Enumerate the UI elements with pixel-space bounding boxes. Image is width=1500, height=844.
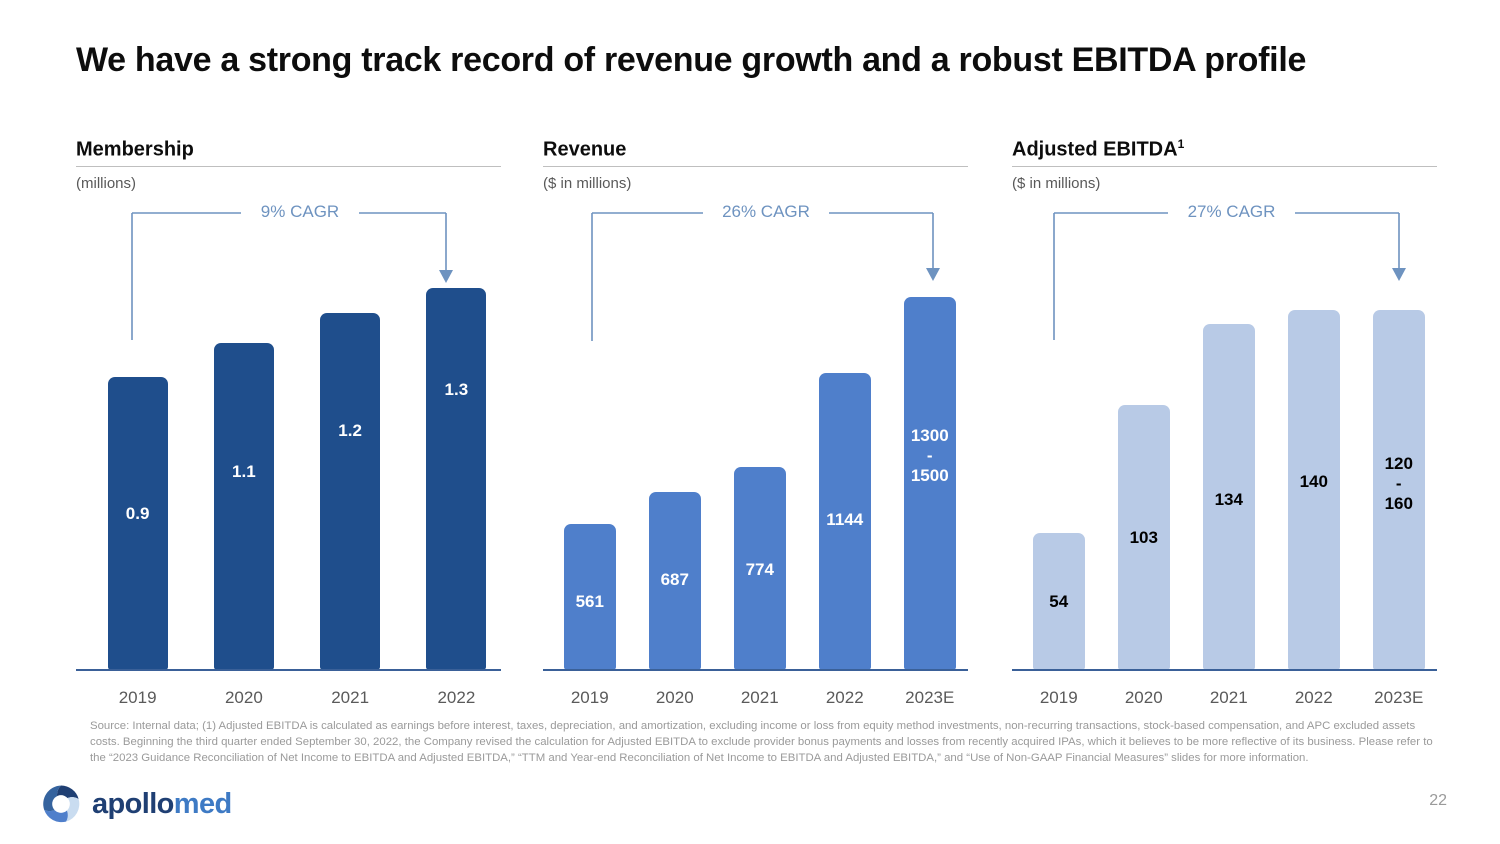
bar-membership-2021[interactable]	[320, 313, 380, 670]
x-axis-ebitda	[1012, 669, 1437, 671]
chart-title-ebitda: Adjusted EBITDA1	[1012, 138, 1437, 166]
bar-group-ebitda: 54 103 134 140 120 - 160	[1012, 288, 1437, 670]
bar-value-membership-2019: 0.9	[126, 504, 150, 524]
x-label-revenue-2019: 2019	[547, 688, 632, 708]
bar-value-revenue-2020: 687	[661, 570, 689, 590]
chart-title-text: Membership	[76, 139, 194, 161]
company-logo: apollomed	[40, 782, 232, 826]
title-divider	[543, 166, 968, 167]
bar-slot: 0.9	[85, 288, 191, 670]
x-axis-membership	[76, 669, 501, 671]
x-label-revenue-2020: 2020	[632, 688, 717, 708]
chart-title-text: Revenue	[543, 139, 626, 161]
chart-units-membership: (millions)	[76, 176, 501, 193]
bar-slot: 1.1	[191, 288, 297, 670]
bar-slot: 1.3	[403, 288, 509, 670]
bar-slot: 54	[1016, 288, 1101, 670]
bar-slot: 687	[632, 288, 717, 670]
chart-title-revenue: Revenue	[543, 138, 968, 166]
bar-group-revenue: 561 687 774 1144 1300 - 1500	[543, 288, 968, 670]
plot-area-ebitda: 54 103 134 140 120 - 160	[1012, 288, 1437, 708]
page-title: We have a strong track record of revenue…	[76, 40, 1436, 81]
chart-title-superscript: 1	[1178, 137, 1185, 151]
page-number: 22	[1429, 792, 1447, 810]
bar-value-revenue-2022: 1144	[826, 510, 863, 530]
bar-group-membership: 0.9 1.1 1.2 1.3	[76, 288, 501, 670]
x-label-ebitda-2019: 2019	[1016, 688, 1101, 708]
title-divider	[76, 166, 501, 167]
bar-value-ebitda-2019: 54	[1049, 592, 1068, 612]
plot-area-membership: 0.9 1.1 1.2 1.3 2019 2020 202	[76, 288, 501, 708]
x-label-revenue-2022: 2022	[802, 688, 887, 708]
bar-value-revenue-2019: 561	[576, 592, 604, 612]
x-label-ebitda-2021: 2021	[1186, 688, 1271, 708]
bar-slot: 134	[1186, 288, 1271, 670]
bar-value-ebitda-2022: 140	[1300, 472, 1328, 492]
chart-panel-membership: Membership (millions) 9% CAGR 0.9	[76, 138, 501, 708]
x-label-ebitda-2020: 2020	[1101, 688, 1186, 708]
logo-text-med: med	[174, 788, 232, 820]
bar-membership-2022[interactable]	[426, 288, 486, 670]
chart-panel-ebitda: Adjusted EBITDA1 ($ in millions) 27% CAG…	[1012, 138, 1437, 708]
logo-text-apollo: apollo	[92, 788, 174, 820]
chart-title-membership: Membership	[76, 138, 501, 166]
bar-value-membership-2021: 1.2	[338, 421, 362, 441]
chart-units-ebitda: ($ in millions)	[1012, 176, 1437, 193]
bar-value-ebitda-2023e: 120 - 160	[1385, 454, 1413, 514]
x-label-revenue-2023e: 2023E	[887, 688, 972, 708]
x-label-membership-2020: 2020	[191, 688, 297, 708]
x-label-membership-2021: 2021	[297, 688, 403, 708]
bar-slot: 1.2	[297, 288, 403, 670]
bar-slot: 1300 - 1500	[887, 288, 972, 670]
slide-canvas: We have a strong track record of revenue…	[0, 0, 1500, 844]
bar-value-revenue-2021: 774	[746, 560, 774, 580]
bar-slot: 774	[717, 288, 802, 670]
x-label-membership-2019: 2019	[85, 688, 191, 708]
x-label-ebitda-2023e: 2023E	[1356, 688, 1441, 708]
bar-value-ebitda-2020: 103	[1130, 528, 1158, 548]
footnote-text: Source: Internal data; (1) Adjusted EBIT…	[90, 718, 1435, 767]
x-axis-revenue	[543, 669, 968, 671]
x-axis-labels-ebitda: 2019 2020 2021 2022 2023E	[1012, 674, 1437, 708]
chart-panel-revenue: Revenue ($ in millions) 26% CAGR 561	[543, 138, 968, 708]
cagr-label-membership: 9% CAGR	[241, 202, 359, 222]
x-label-ebitda-2022: 2022	[1271, 688, 1356, 708]
bar-slot: 103	[1101, 288, 1186, 670]
x-label-revenue-2021: 2021	[717, 688, 802, 708]
bar-slot: 120 - 160	[1356, 288, 1441, 670]
bar-value-ebitda-2021: 134	[1215, 490, 1243, 510]
chart-title-text: Adjusted EBITDA	[1012, 139, 1178, 161]
logo-wordmark: apollomed	[92, 790, 232, 819]
apollomed-swirl-icon	[40, 783, 82, 825]
chart-units-revenue: ($ in millions)	[543, 176, 968, 193]
cagr-label-ebitda: 27% CAGR	[1168, 202, 1295, 222]
title-divider	[1012, 166, 1437, 167]
cagr-label-revenue: 26% CAGR	[703, 202, 829, 222]
x-axis-labels-membership: 2019 2020 2021 2022	[76, 674, 501, 708]
bar-slot: 561	[547, 288, 632, 670]
plot-area-revenue: 561 687 774 1144 1300 - 1500	[543, 288, 968, 708]
bar-slot: 1144	[802, 288, 887, 670]
bar-value-membership-2022: 1.3	[445, 380, 469, 400]
bar-value-revenue-2023e: 1300 - 1500	[911, 426, 949, 486]
x-label-membership-2022: 2022	[403, 688, 509, 708]
x-axis-labels-revenue: 2019 2020 2021 2022 2023E	[543, 674, 968, 708]
bar-slot: 140	[1271, 288, 1356, 670]
bar-value-membership-2020: 1.1	[232, 462, 256, 482]
bar-membership-2020[interactable]	[214, 343, 274, 670]
